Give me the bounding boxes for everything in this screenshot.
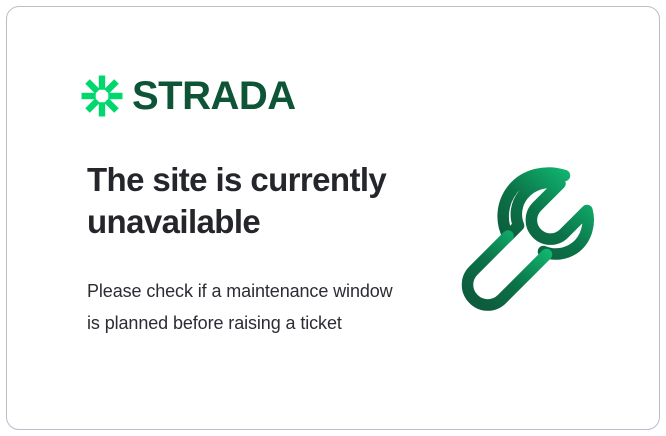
page-description: Please check if a maintenance window is … xyxy=(87,275,397,339)
brand-wordmark: STRADA xyxy=(132,76,296,116)
page-title: The site is currently unavailable xyxy=(87,159,427,243)
error-page: STRADA The site is currently unavailable… xyxy=(0,0,666,436)
brand-logo: STRADA xyxy=(81,71,296,121)
message-card: STRADA The site is currently unavailable… xyxy=(6,6,660,430)
strada-asterisk-icon xyxy=(81,75,123,117)
wrench-icon xyxy=(457,155,625,321)
